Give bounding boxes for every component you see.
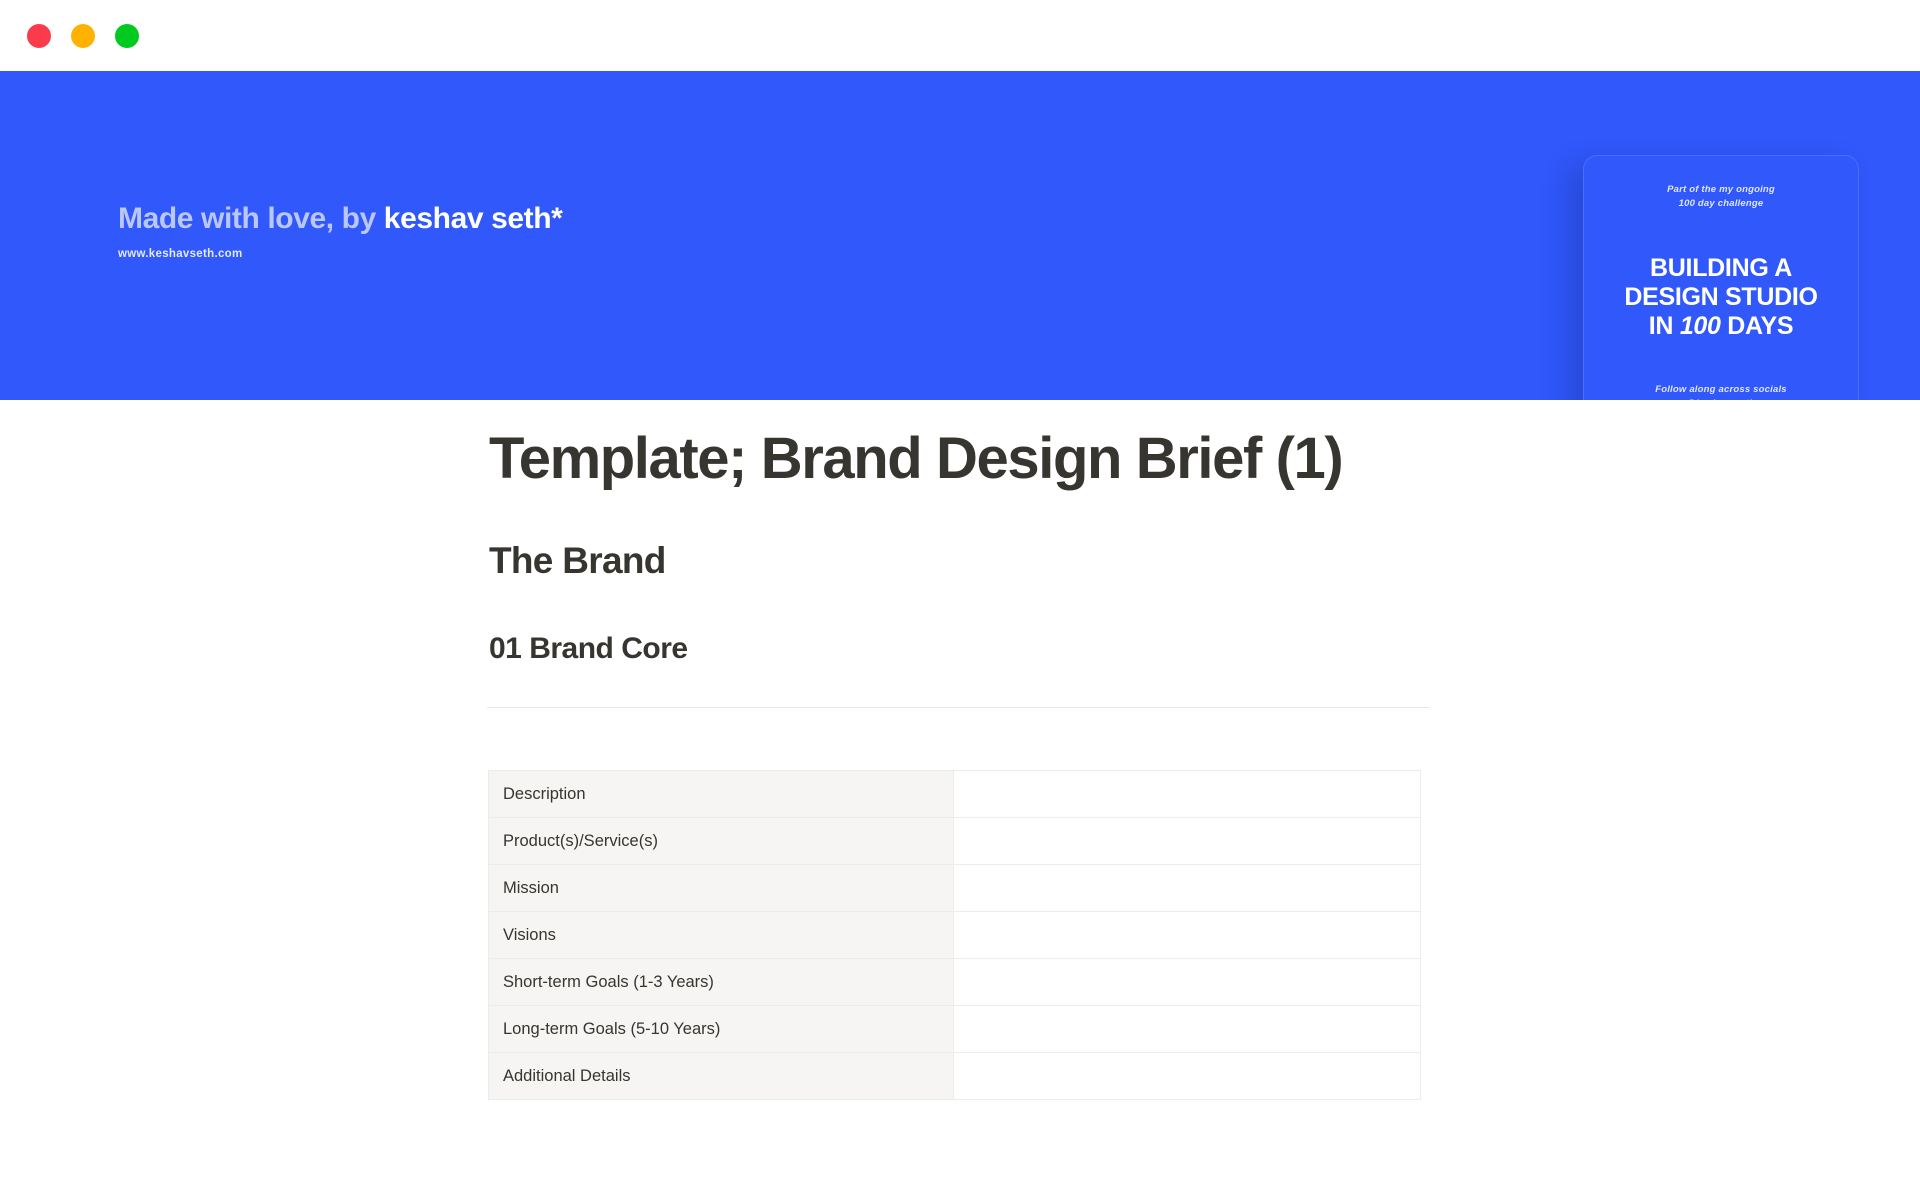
hero-banner: Made with love, by keshav seth* www.kesh… xyxy=(0,71,1920,400)
author-website-url[interactable]: www.keshavseth.com xyxy=(118,248,818,260)
promo-headline-suffix: DAYS xyxy=(1721,312,1794,340)
promo-footer-line-1: Follow along across socials xyxy=(1655,383,1787,397)
brand-core-table-body: Description Product(s)/Service(s) Missio… xyxy=(489,771,1421,1100)
traffic-light-group xyxy=(27,24,139,48)
table-row[interactable]: Description xyxy=(489,771,1421,818)
table-row[interactable]: Additional Details xyxy=(489,1053,1421,1100)
author-credit-line: Made with love, by keshav seth* xyxy=(118,202,818,235)
promo-subtitle-line-1: Part of the my ongoing xyxy=(1667,183,1775,197)
table-row[interactable]: Long-term Goals (5-10 Years) xyxy=(489,1006,1421,1053)
section-heading-the-brand[interactable]: The Brand xyxy=(489,540,666,582)
row-value[interactable] xyxy=(954,771,1421,818)
credit-prefix-text: Made with love, by xyxy=(118,202,384,235)
row-label[interactable]: Visions xyxy=(489,912,954,959)
minimize-window-button[interactable] xyxy=(71,24,95,48)
row-value[interactable] xyxy=(954,865,1421,912)
row-label[interactable]: Long-term Goals (5-10 Years) xyxy=(489,1006,954,1053)
promo-headline-line-2: DESIGN STUDIO xyxy=(1624,283,1817,311)
row-label[interactable]: Product(s)/Service(s) xyxy=(489,818,954,865)
row-value[interactable] xyxy=(954,1053,1421,1100)
table-row[interactable]: Product(s)/Service(s) xyxy=(489,818,1421,865)
promo-card-subtitle: Part of the my ongoing 100 day challenge xyxy=(1667,183,1775,211)
promo-headline-line-1: BUILDING A xyxy=(1624,254,1817,282)
promo-headline-number: 100 xyxy=(1680,312,1721,340)
row-value[interactable] xyxy=(954,818,1421,865)
promo-subtitle-line-2: 100 day challenge xyxy=(1667,197,1775,211)
subsection-heading-brand-core[interactable]: 01 Brand Core xyxy=(489,632,688,666)
table-row[interactable]: Mission xyxy=(489,865,1421,912)
page-title[interactable]: Template; Brand Design Brief (1) xyxy=(489,425,1342,492)
row-value[interactable] xyxy=(954,959,1421,1006)
row-value[interactable] xyxy=(954,912,1421,959)
promo-headline-prefix: IN xyxy=(1649,312,1680,340)
row-value[interactable] xyxy=(954,1006,1421,1053)
promo-card[interactable]: Part of the my ongoing 100 day challenge… xyxy=(1583,155,1859,400)
row-label[interactable]: Additional Details xyxy=(489,1053,954,1100)
table-row[interactable]: Short-term Goals (1-3 Years) xyxy=(489,959,1421,1006)
brand-core-table: Description Product(s)/Service(s) Missio… xyxy=(488,770,1421,1100)
table-row[interactable]: Visions xyxy=(489,912,1421,959)
maximize-window-button[interactable] xyxy=(115,24,139,48)
author-credit-block: Made with love, by keshav seth* www.kesh… xyxy=(118,202,818,260)
credit-author-name: keshav seth* xyxy=(384,202,563,235)
close-window-button[interactable] xyxy=(27,24,51,48)
row-label[interactable]: Short-term Goals (1-3 Years) xyxy=(489,959,954,1006)
promo-headline-line-3: IN 100 DAYS xyxy=(1624,312,1817,340)
window-title-bar xyxy=(0,0,1920,71)
promo-card-footer: Follow along across socials @keshav_seth xyxy=(1655,383,1787,400)
promo-card-headline: BUILDING A DESIGN STUDIO IN 100 DAYS xyxy=(1624,254,1817,340)
row-label[interactable]: Mission xyxy=(489,865,954,912)
section-divider xyxy=(487,707,1430,708)
row-label[interactable]: Description xyxy=(489,771,954,818)
document-body: Template; Brand Design Brief (1) The Bra… xyxy=(0,400,1920,1200)
